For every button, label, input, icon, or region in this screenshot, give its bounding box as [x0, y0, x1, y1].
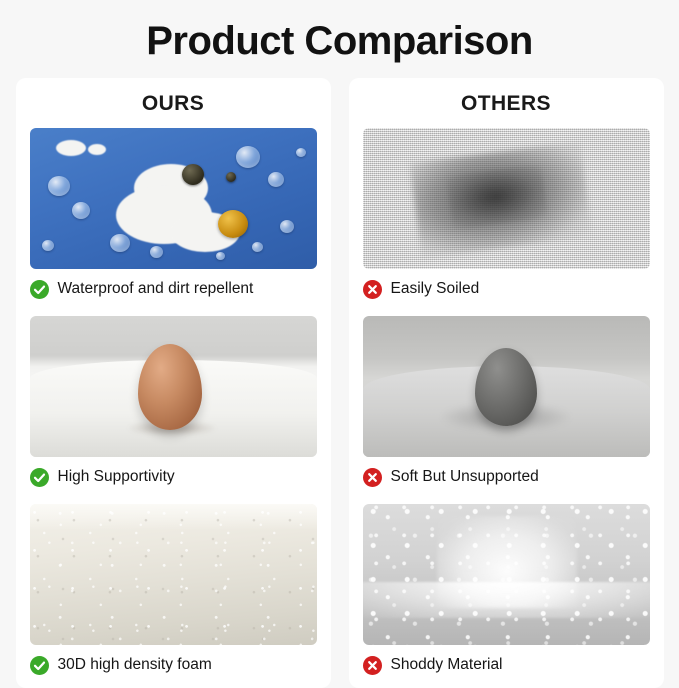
caption-shoddy: Shoddy Material [363, 654, 650, 676]
caption-foam: 30D high density foam [30, 654, 317, 676]
caption-soft: Soft But Unsupported [363, 466, 650, 488]
caption-text: Soft But Unsupported [391, 468, 539, 487]
check-icon [30, 280, 49, 299]
page-title: Product Comparison [146, 18, 533, 64]
cross-icon [363, 468, 382, 487]
caption-text: High Supportivity [58, 468, 175, 487]
others-heading: OTHERS [363, 92, 650, 116]
ours-row-foam: 30D high density foam [30, 504, 317, 676]
grey-fabric-stain-image [363, 128, 650, 269]
check-icon [30, 656, 49, 675]
caption-support: High Supportivity [30, 466, 317, 488]
ours-card: OURS [16, 78, 331, 688]
cross-icon [363, 656, 382, 675]
cross-icon [363, 280, 382, 299]
caption-text: 30D high density foam [58, 656, 212, 675]
comparison-columns: OURS [16, 78, 664, 688]
brown-egg-on-firm-foam-image [30, 316, 317, 457]
others-card: OTHERS Easily Soiled [349, 78, 664, 688]
caption-text: Shoddy Material [391, 656, 503, 675]
others-row-soiled: Easily Soiled [363, 128, 650, 300]
product-comparison-page: Product Comparison OURS [0, 0, 679, 679]
grey-egg-sinking-foam-image [363, 316, 650, 457]
caption-text: Easily Soiled [391, 280, 480, 299]
caption-soiled: Easily Soiled [363, 278, 650, 300]
check-icon [30, 468, 49, 487]
white-high-density-foam-image [30, 504, 317, 645]
others-row-shoddy: Shoddy Material [363, 504, 650, 676]
water-splash-shoddy-material-image [363, 504, 650, 645]
ours-heading: OURS [30, 92, 317, 116]
others-row-soft: Soft But Unsupported [363, 316, 650, 488]
blue-waterproof-mat-image [30, 128, 317, 269]
ours-row-support: High Supportivity [30, 316, 317, 488]
caption-text: Waterproof and dirt repellent [58, 280, 254, 299]
caption-waterproof: Waterproof and dirt repellent [30, 278, 317, 300]
ours-row-waterproof: Waterproof and dirt repellent [30, 128, 317, 300]
